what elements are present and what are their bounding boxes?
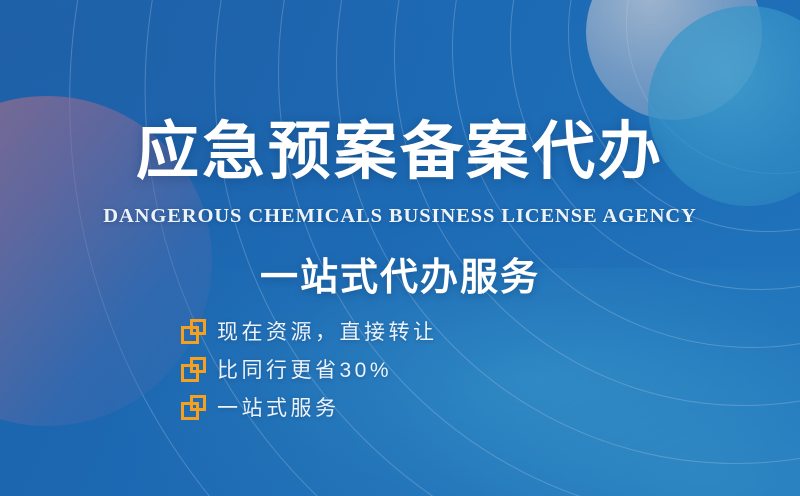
promo-banner: 应急预案备案代办 DANGEROUS CHEMICALS BUSINESS LI… xyxy=(0,0,800,496)
list-item: 一站式服务 xyxy=(181,391,438,423)
list-item: 现在资源，直接转让 xyxy=(181,315,438,347)
sub-title: 一站式代办服务 xyxy=(0,246,800,301)
list-item-label: 一站式服务 xyxy=(217,392,340,422)
banner-content: 应急预案备案代办 DANGEROUS CHEMICALS BUSINESS LI… xyxy=(0,0,800,496)
overlapping-squares-icon xyxy=(181,319,206,344)
list-item-label: 比同行更省30% xyxy=(217,354,392,384)
list-item: 比同行更省30% xyxy=(181,353,438,385)
list-item-label: 现在资源，直接转让 xyxy=(217,316,438,346)
feature-bullet-list: 现在资源，直接转让 比同行更省30% 一站式服务 xyxy=(181,315,438,423)
main-title: 应急预案备案代办 xyxy=(0,118,800,186)
overlapping-squares-icon xyxy=(181,395,206,420)
overlapping-squares-icon xyxy=(181,357,206,382)
english-subtitle: DANGEROUS CHEMICALS BUSINESS LICENSE AGE… xyxy=(0,205,800,228)
